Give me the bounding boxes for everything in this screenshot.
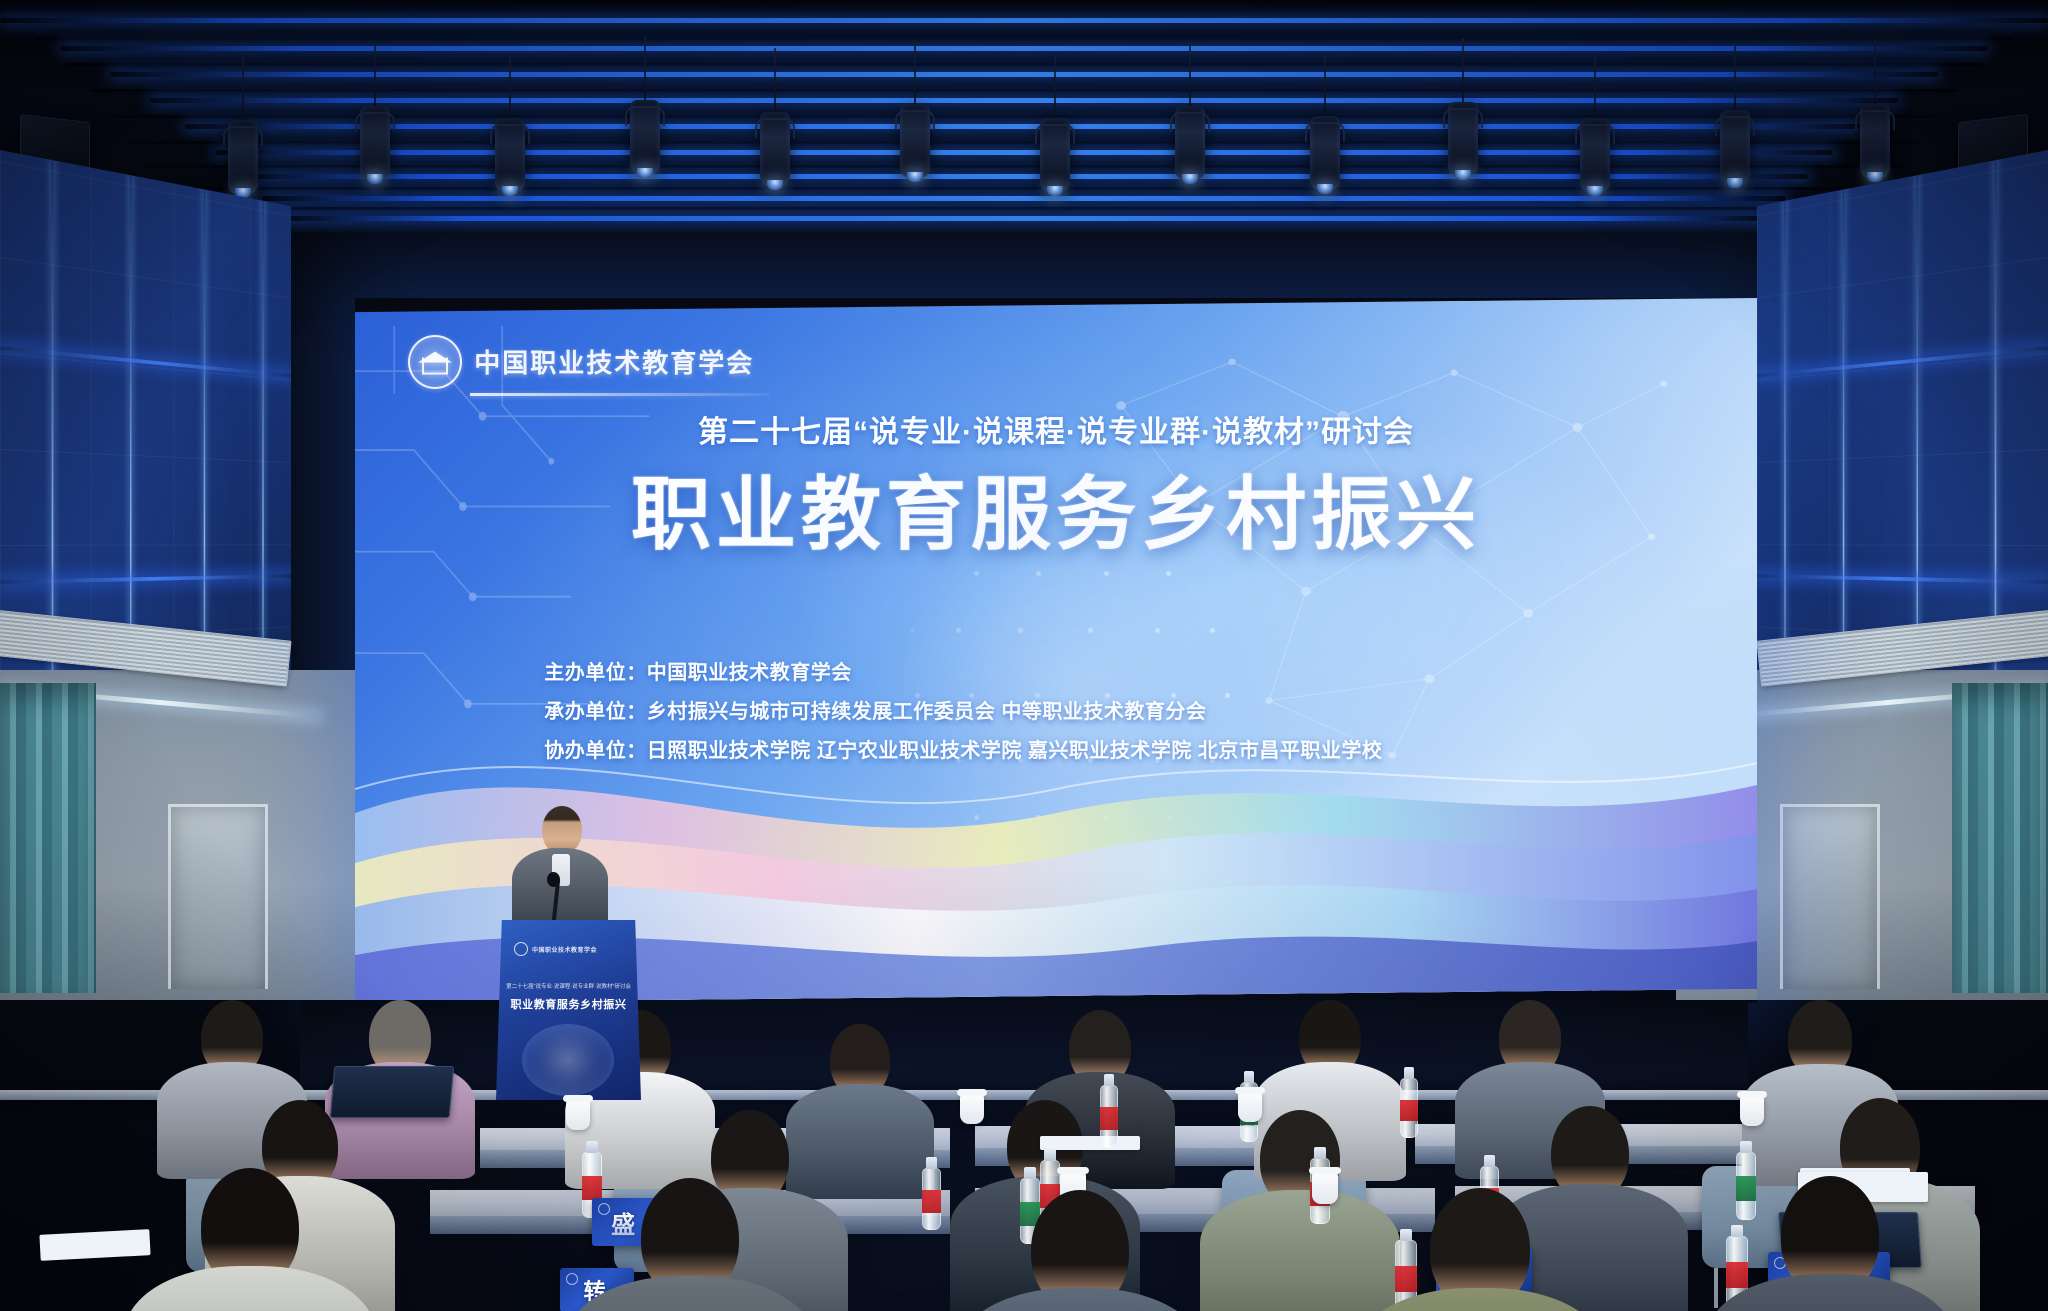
audience-row3-person-2 xyxy=(565,1178,815,1311)
speaker-head xyxy=(542,806,582,854)
association-logo-text: 中国职业技术教育学会 xyxy=(474,343,754,380)
papers-1 xyxy=(1040,1136,1140,1150)
podium-microphone-head xyxy=(547,872,560,887)
audience-row3-person-5-torso xyxy=(1705,1274,1955,1311)
paper-cup-5 xyxy=(1312,1172,1338,1204)
podium-subtitle: 第二十七届“说专业·说课程·说专业群·说教材”研讨会 xyxy=(496,982,641,990)
stage-light-13 xyxy=(1860,104,1890,178)
water-bottle-2 xyxy=(1400,1078,1418,1138)
audience-row3-person-5 xyxy=(1705,1176,1955,1311)
audience-row3-person-1-torso xyxy=(125,1266,375,1311)
speaker-person xyxy=(512,806,608,936)
paper-cup-4 xyxy=(1740,1096,1764,1126)
logo-underline xyxy=(470,393,770,396)
stage-light-5 xyxy=(760,112,790,186)
stage-light-11 xyxy=(1580,118,1610,192)
graduation-cap-icon xyxy=(408,335,462,389)
door-left[interactable] xyxy=(168,804,268,989)
stage-light-2 xyxy=(360,106,390,180)
stage-light-6 xyxy=(900,104,930,178)
conference-main-title: 职业教育服务乡村振兴 xyxy=(355,450,1757,566)
podium-logo: 中国职业技术教育学会 xyxy=(514,942,597,956)
audience-row3-person-4-torso xyxy=(1353,1288,1608,1311)
stage-light-7 xyxy=(1040,118,1070,192)
conference-subtitle: 第二十七届“说专业·说课程·说专业群·说教材”研讨会 xyxy=(355,407,1757,451)
audience-row3-person-4 xyxy=(1353,1188,1608,1311)
stage-light-1 xyxy=(228,120,258,194)
organizer-host: 主办单位：中国职业技术教育学会 xyxy=(544,654,1382,693)
stage-light-12 xyxy=(1720,110,1750,184)
association-logo: 中国职业技术教育学会 xyxy=(408,335,754,389)
stage-light-10 xyxy=(1448,102,1478,176)
audience-row3-person-3-torso xyxy=(955,1288,1205,1311)
podium-main-title: 职业教育服务乡村振兴 xyxy=(496,996,641,1012)
door-right[interactable] xyxy=(1780,804,1880,989)
curtain-right xyxy=(1952,683,2048,993)
podium-globe-graphic xyxy=(522,1024,614,1096)
stage-light-9 xyxy=(1310,116,1340,190)
ceiling xyxy=(0,0,2048,232)
conference-hall-photo: 中国职业技术教育学会 第二十七届“说专业·说课程·说专业群·说教材”研讨会 职业… xyxy=(0,0,2048,1311)
laptop-1[interactable] xyxy=(330,1066,455,1118)
paper-cup-1 xyxy=(566,1100,590,1130)
stage-light-4 xyxy=(630,100,660,174)
water-bottle-1 xyxy=(1100,1085,1118,1147)
paper-cup-2 xyxy=(960,1094,984,1124)
paper-cup-3 xyxy=(1238,1092,1262,1122)
audience-row3-person-2-torso xyxy=(565,1276,815,1311)
stage-light-8 xyxy=(1175,106,1205,180)
stage-light-3 xyxy=(495,118,525,192)
audience-row3-person-3 xyxy=(955,1190,1205,1311)
podium: 中国职业技术教育学会 第二十七届“说专业·说课程·说专业群·说教材”研讨会 职业… xyxy=(496,920,641,1100)
water-bottle-11 xyxy=(922,1168,941,1230)
curtain-left xyxy=(0,683,96,993)
audience-row3-person-1 xyxy=(125,1168,375,1311)
podium-logo-text: 中国职业技术教育学会 xyxy=(532,945,597,954)
